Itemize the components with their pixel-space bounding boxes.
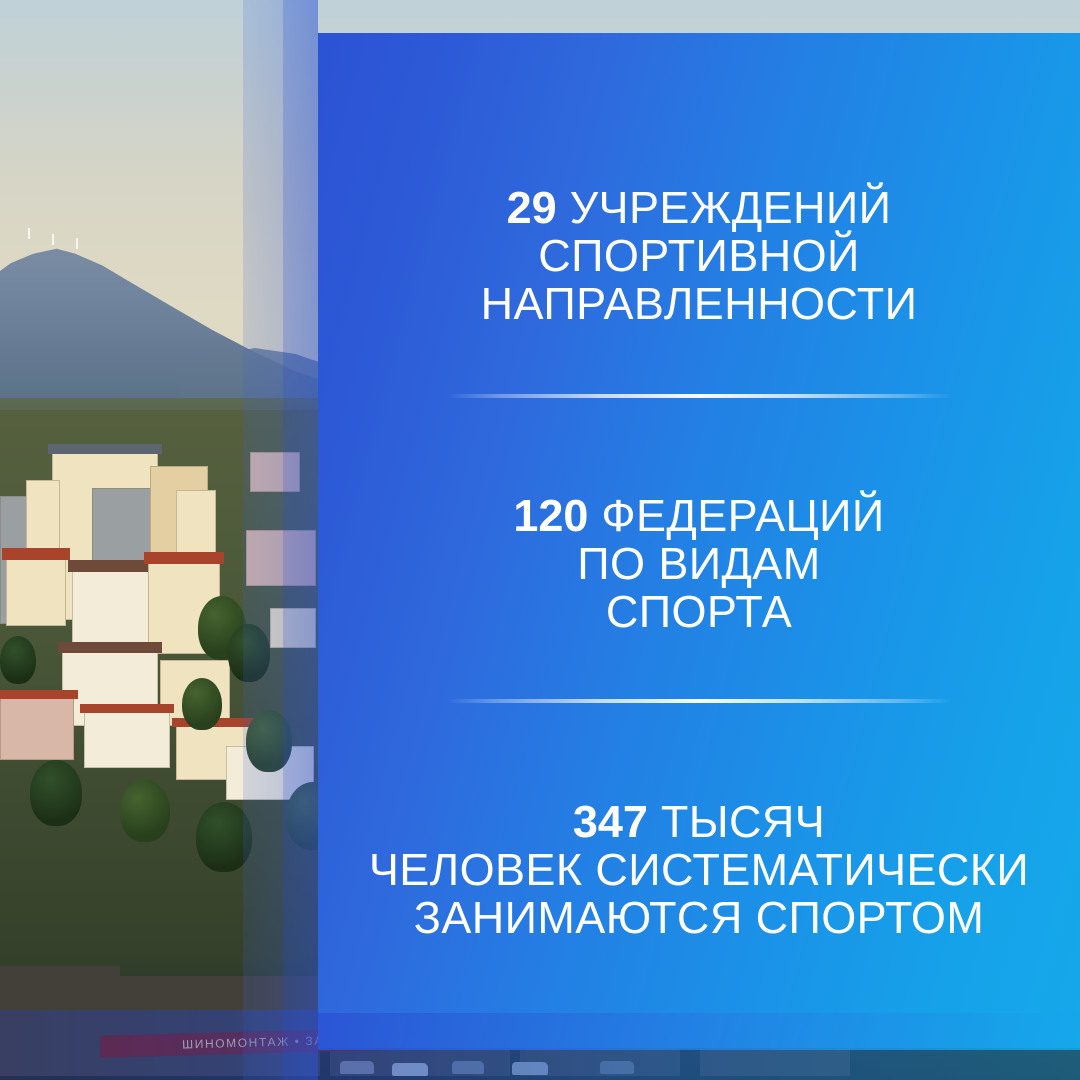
stat-line-1: 347 ТЫСЯЧ [318, 798, 1080, 846]
stat-line-2: ЧЕЛОВЕК СИСТЕМАТИЧЕСКИ [318, 846, 1080, 894]
building [84, 710, 170, 768]
building [0, 696, 74, 760]
infographic-slide: ШИНОМОНТАЖ • ЗАМЕНА МАСЛА • АВТОМОЙКА • … [0, 0, 1080, 1080]
parked-car [512, 1062, 548, 1075]
stat-line-2: СПОРТИВНОЙ [318, 232, 1080, 280]
tree [30, 760, 82, 826]
parked-car [452, 1061, 484, 1074]
stat-line-1-text: ТЫСЯЧ [661, 796, 825, 847]
stat-line-2: ПО ВИДАМ [318, 540, 1080, 588]
parked-car [340, 1061, 374, 1074]
building [270, 608, 316, 648]
tree [120, 780, 170, 842]
stat-line-1: 120 ФЕДЕРАЦИЙ [318, 492, 1080, 540]
stat-block-participants: 347 ТЫСЯЧ ЧЕЛОВЕК СИСТЕМАТИЧЕСКИ ЗАНИМАЮ… [318, 798, 1080, 942]
shop-building [0, 966, 120, 1076]
building [250, 452, 300, 492]
stat-number: 29 [507, 182, 557, 233]
tree [182, 678, 222, 730]
stat-line-1-text: ФЕДЕРАЦИЙ [601, 490, 884, 541]
shop-building [120, 976, 320, 1076]
roof [80, 704, 174, 713]
antenna-mast [76, 238, 78, 249]
antenna-mast [52, 234, 54, 245]
stat-line-1: 29 УЧРЕЖДЕНИЙ [318, 184, 1080, 232]
stat-line-3: НАПРАВЛЕННОСТИ [318, 280, 1080, 328]
roof [144, 552, 224, 564]
roof [48, 444, 162, 454]
stat-number: 120 [513, 490, 588, 541]
section-divider [447, 394, 952, 398]
stat-block-facilities: 29 УЧРЕЖДЕНИЙ СПОРТИВНОЙ НАПРАВЛЕННОСТИ [318, 184, 1080, 328]
stats-content: 29 УЧРЕЖДЕНИЙ СПОРТИВНОЙ НАПРАВЛЕННОСТИ … [318, 33, 1080, 1048]
roof [0, 690, 78, 699]
section-divider [447, 699, 952, 703]
tree [228, 624, 270, 682]
tree [246, 710, 292, 772]
roof [58, 642, 162, 653]
stat-line-3: ЗАНИМАЮТСЯ СПОРТОМ [318, 894, 1080, 942]
parked-car [392, 1063, 428, 1076]
tree [196, 802, 252, 872]
roof [2, 548, 70, 560]
building [6, 556, 66, 626]
antenna-mast [28, 228, 30, 239]
stat-line-1-text: УЧРЕЖДЕНИЙ [570, 182, 892, 233]
building [246, 530, 316, 586]
stat-block-federations: 120 ФЕДЕРАЦИЙ ПО ВИДАМ СПОРТА [318, 492, 1080, 636]
tree [0, 636, 36, 684]
stat-number: 347 [573, 796, 648, 847]
parked-car [600, 1061, 634, 1074]
stat-line-3: СПОРТА [318, 588, 1080, 636]
